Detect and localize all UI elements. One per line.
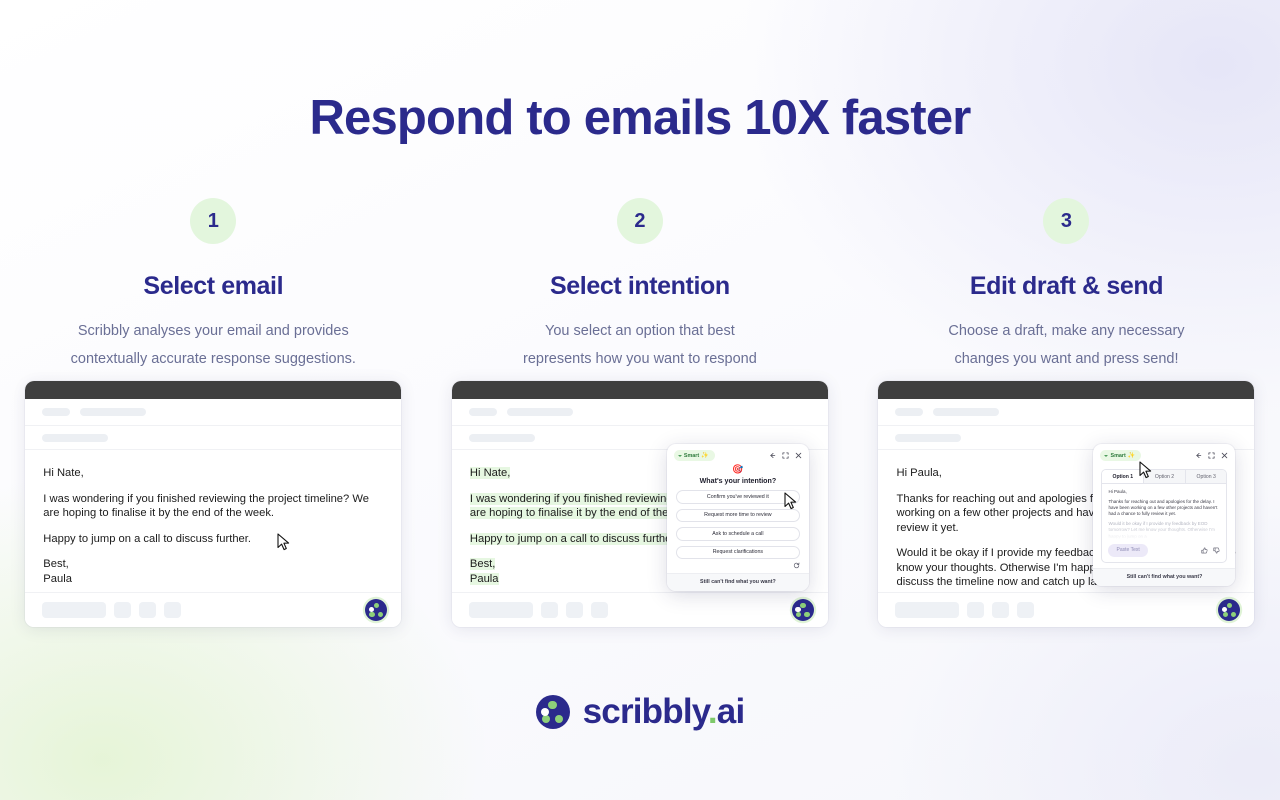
step-desc-line-1: Scribbly analyses your email and provide… (78, 323, 349, 339)
tab-option-1[interactable]: Option 1 (1102, 470, 1144, 483)
draft-paragraph-1: Thanks for reaching out and apologies fo… (1108, 499, 1220, 517)
draft-popup: Smart ✨ (1093, 444, 1235, 586)
email-subject-row (25, 426, 401, 450)
step-desc-line-1: Choose a draft, make any necessary (948, 323, 1184, 339)
email-signoff: Best,Paula (43, 557, 383, 586)
intention-option-4[interactable]: Request clarifications (676, 546, 800, 560)
steps-row: 1 Select email Scribbly analyses your em… (0, 198, 1280, 373)
intention-popup: Smart ✨ (667, 444, 809, 591)
smart-mode-chip[interactable]: Smart ✨ (1100, 450, 1141, 461)
cards-row: Hi Nate, I was wondering if you finished… (0, 381, 1280, 627)
card-slot-1: Hi Nate, I was wondering if you finished… (0, 381, 427, 627)
thumbs-up-icon[interactable] (1201, 547, 1208, 554)
step-title: Select email (143, 272, 283, 301)
intention-option-2[interactable]: Request more time to review (676, 509, 800, 523)
greeting-text: Hi Nate, (470, 467, 510, 479)
brand-name: scribbly (583, 692, 708, 731)
email-toolbar-2 (452, 592, 828, 627)
toolbar-icon-skeleton-2[interactable] (566, 602, 583, 618)
email-header-row (452, 399, 828, 426)
brand-footer: scribbly.ai (0, 692, 1280, 732)
toolbar-icon-skeleton-3[interactable] (591, 602, 608, 618)
step-description: Scribbly analyses your email and provide… (71, 317, 356, 373)
draft-actions: Paste Text (1102, 542, 1226, 562)
email-paragraph-1: I was wondering if you finished reviewin… (43, 492, 383, 521)
sender-name: Paula (43, 573, 72, 585)
email-toolbar-1 (25, 592, 401, 627)
header-skeleton-long (507, 408, 573, 416)
scribbly-logo-icon[interactable] (365, 599, 387, 621)
back-arrow-icon[interactable] (1195, 452, 1202, 459)
sender-name: Paula (470, 573, 499, 585)
header-skeleton-long (80, 408, 146, 416)
paste-text-button[interactable]: Paste Text (1108, 544, 1147, 557)
brand-dot: . (708, 692, 717, 731)
back-arrow-icon[interactable] (769, 452, 776, 459)
draft-greeting: Hi Paula, (1108, 489, 1220, 495)
popup-footer-link[interactable]: Still can't find what you want? (667, 573, 809, 591)
send-button-skeleton[interactable] (469, 602, 533, 618)
card-slot-2: Hi Nate, I was wondering if you finished… (427, 381, 854, 627)
step-number-badge: 1 (190, 198, 236, 244)
toolbar-icon-skeleton-2[interactable] (139, 602, 156, 618)
smart-mode-chip[interactable]: Smart ✨ (674, 450, 715, 461)
popup-question: What's your intention? (667, 477, 809, 485)
popup-window-controls (1195, 452, 1228, 459)
draft-options-box: Option 1 Option 2 Option 3 Hi Paula, Tha… (1101, 469, 1227, 563)
sparkle-icon: ✨ (701, 452, 708, 459)
refresh-suggestions-button[interactable] (667, 559, 809, 573)
step-1: 1 Select email Scribbly analyses your em… (0, 198, 427, 373)
header-skeleton-short (42, 408, 70, 416)
email-toolbar-3 (878, 592, 1254, 627)
header-skeleton-short (469, 408, 497, 416)
tab-option-3[interactable]: Option 3 (1186, 470, 1227, 483)
email-client-1: Hi Nate, I was wondering if you finished… (25, 381, 401, 627)
header-skeleton-short (895, 408, 923, 416)
close-icon[interactable] (795, 452, 802, 459)
step-description: You select an option that best represent… (523, 317, 757, 373)
draft-fade-overlay (1102, 526, 1226, 542)
expand-icon[interactable] (1208, 452, 1215, 459)
step-description: Choose a draft, make any necessary chang… (948, 317, 1184, 373)
toolbar-icon-skeleton-2[interactable] (992, 602, 1009, 618)
card-slot-3: Hi Paula, Thanks for reaching out and ap… (853, 381, 1280, 627)
step-2: 2 Select intention You select an option … (427, 198, 854, 373)
target-icon: 🎯 (667, 465, 809, 474)
email-paragraph-2: Happy to jump on a call to discuss furth… (43, 532, 383, 547)
toolbar-icon-skeleton-3[interactable] (164, 602, 181, 618)
toolbar-icon-skeleton-1[interactable] (967, 602, 984, 618)
email-client-3: Hi Paula, Thanks for reaching out and ap… (878, 381, 1254, 627)
brand-tld: ai (717, 692, 745, 731)
email-body-1: Hi Nate, I was wondering if you finished… (25, 450, 401, 586)
step-number-badge: 2 (617, 198, 663, 244)
step-number-badge: 3 (1043, 198, 1089, 244)
thumbs-down-icon[interactable] (1213, 547, 1220, 554)
email-header-row (25, 399, 401, 426)
intention-options: Confirm you've reviewed it Request more … (667, 485, 809, 559)
feedback-buttons (1201, 547, 1220, 554)
subject-skeleton (895, 434, 961, 442)
popup-header: Smart ✨ (1093, 444, 1235, 464)
toolbar-icon-skeleton-1[interactable] (114, 602, 131, 618)
window-titlebar (25, 381, 401, 399)
step-title: Select intention (550, 272, 730, 301)
send-button-skeleton[interactable] (42, 602, 106, 618)
scribbly-logo-icon[interactable] (1218, 599, 1240, 621)
subject-skeleton (42, 434, 108, 442)
popup-footer-link[interactable]: Still can't find what you want? (1093, 568, 1235, 586)
email-client-2: Hi Nate, I was wondering if you finished… (452, 381, 828, 627)
window-titlebar (452, 381, 828, 399)
intention-option-3[interactable]: Ask to schedule a call (676, 527, 800, 541)
step-title: Edit draft & send (970, 272, 1163, 301)
landing-page: Respond to emails 10X faster 1 Select em… (0, 0, 1280, 800)
signoff-text: Best, (43, 558, 69, 570)
popup-header: Smart ✨ (667, 444, 809, 464)
email-greeting: Hi Nate, (43, 466, 383, 481)
smart-chip-label: Smart (1110, 453, 1125, 459)
step-3: 3 Edit draft & send Choose a draft, make… (853, 198, 1280, 373)
step-desc-line-2: contextually accurate response suggestio… (71, 351, 356, 367)
paragraph-2-text: Happy to jump on a call to discuss furth… (470, 533, 678, 545)
smart-chip-label: Smart (684, 453, 699, 459)
window-titlebar (878, 381, 1254, 399)
step-desc-line-1: You select an option that best (545, 323, 735, 339)
draft-preview-text: Hi Paula, Thanks for reaching out and ap… (1102, 484, 1226, 542)
email-header-row (878, 399, 1254, 426)
toolbar-icon-skeleton-1[interactable] (541, 602, 558, 618)
intention-option-1[interactable]: Confirm you've reviewed it (676, 490, 800, 504)
send-button-skeleton[interactable] (895, 602, 959, 618)
brand-wordmark: scribbly.ai (583, 692, 745, 732)
toolbar-icon-skeleton-3[interactable] (1017, 602, 1034, 618)
popup-window-controls (769, 452, 802, 459)
chevron-down-icon (1104, 455, 1108, 457)
tab-option-2[interactable]: Option 2 (1144, 470, 1186, 483)
scribbly-logo-icon[interactable] (792, 599, 814, 621)
close-icon[interactable] (1221, 452, 1228, 459)
step-desc-line-2: represents how you want to respond (523, 351, 757, 367)
draft-tabs: Option 1 Option 2 Option 3 (1102, 470, 1226, 484)
step-desc-line-2: changes you want and press send! (954, 351, 1178, 367)
chevron-down-icon (678, 455, 682, 457)
subject-skeleton (469, 434, 535, 442)
header-skeleton-long (933, 408, 999, 416)
scribbly-logo-icon (536, 695, 570, 729)
sparkle-icon: ✨ (1128, 452, 1135, 459)
expand-icon[interactable] (782, 452, 789, 459)
page-title: Respond to emails 10X faster (0, 88, 1280, 148)
signoff-text: Best, (470, 558, 496, 570)
